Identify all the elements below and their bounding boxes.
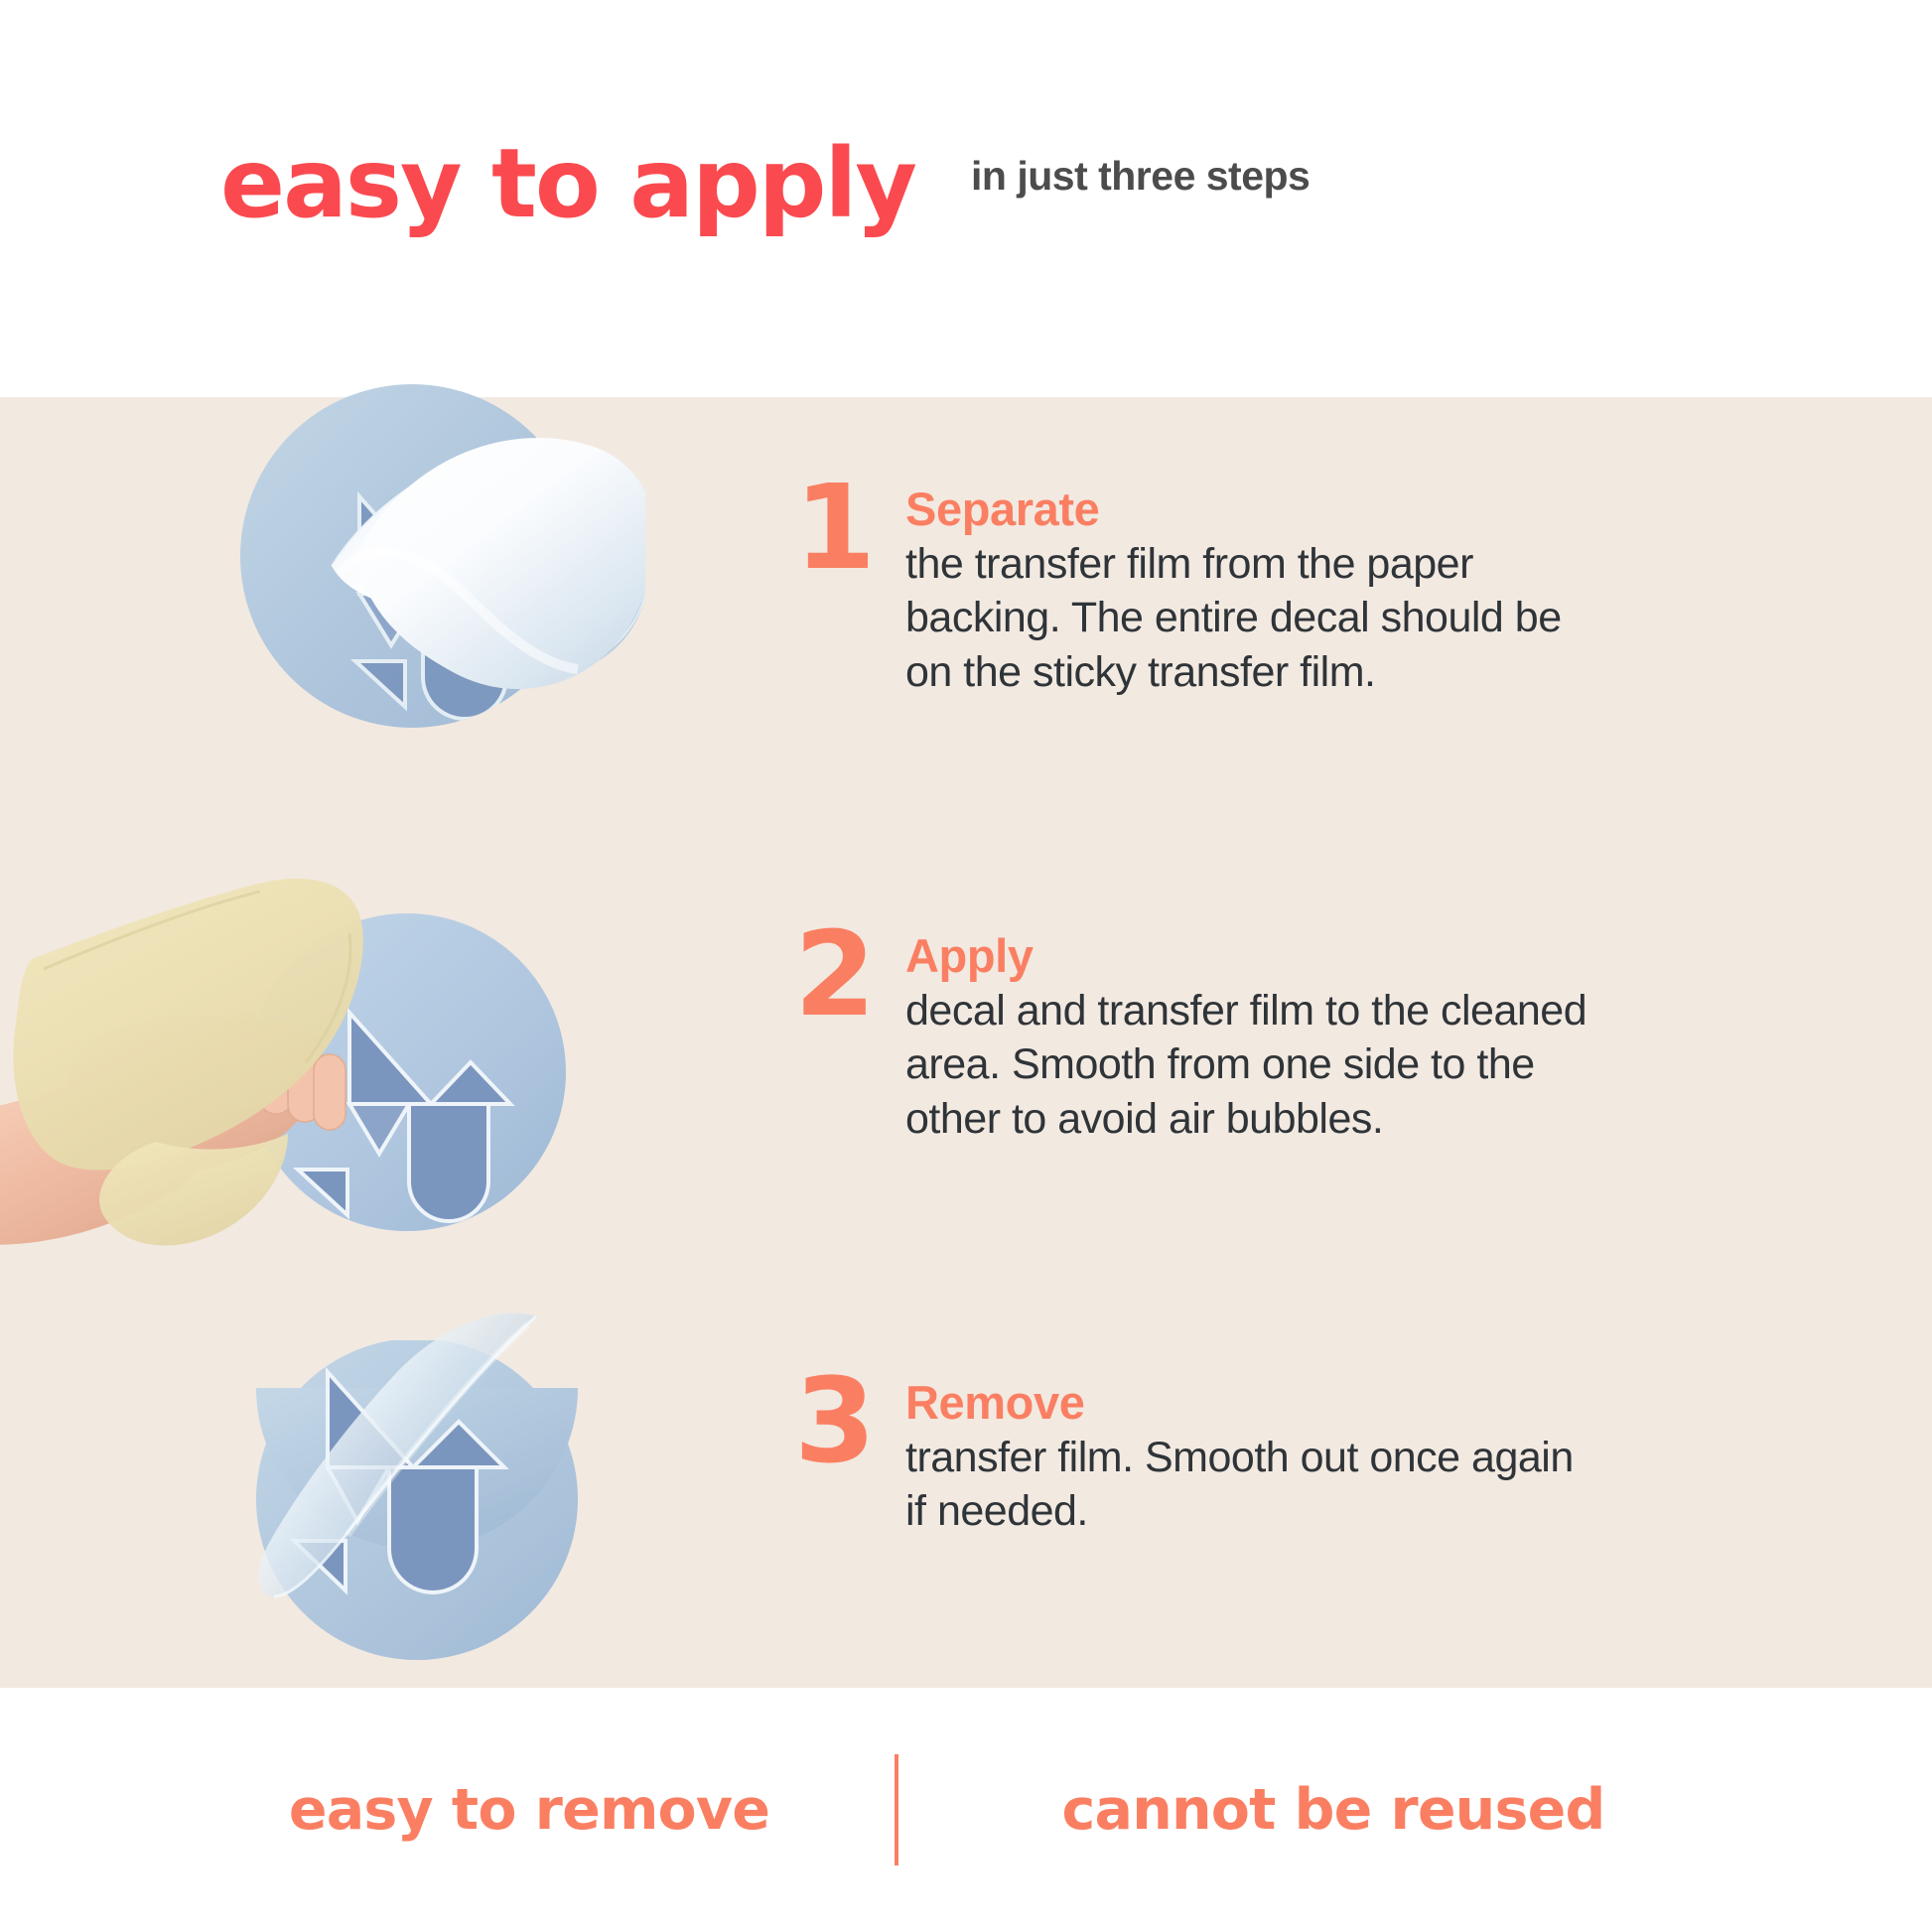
step-text-apply: decal and transfer film to the cleaned a… bbox=[905, 984, 1600, 1147]
headline-group: easy to apply in just three steps bbox=[220, 139, 1328, 228]
infographic-poster: easy to apply in just three steps bbox=[0, 0, 1932, 1932]
step-text-separate: the transfer film from the paper backing… bbox=[905, 537, 1600, 700]
footer: easy to remove cannot be reused bbox=[0, 1688, 1932, 1932]
step-1-illustration bbox=[228, 328, 645, 745]
page-subtitle: in just three steps bbox=[971, 151, 1328, 201]
step-body-1: Separate the transfer film from the pape… bbox=[905, 477, 1600, 700]
footer-claim-cannot-be-reused: cannot be reused bbox=[956, 1777, 1711, 1843]
footer-claim-easy-to-remove: easy to remove bbox=[221, 1777, 837, 1843]
step-body-3: Remove transfer film. Smooth out once ag… bbox=[905, 1370, 1600, 1539]
step-item-3: 3 Remove transfer film. Smooth out once … bbox=[794, 1370, 1600, 1539]
steps-list: 1 Separate the transfer film from the pa… bbox=[794, 397, 1569, 1688]
step-title-remove: Remove bbox=[905, 1378, 1600, 1429]
step-2-illustration bbox=[0, 784, 695, 1311]
step-number-1: 1 bbox=[794, 477, 905, 580]
step-body-2: Apply decal and transfer film to the cle… bbox=[905, 923, 1600, 1147]
step-text-remove: transfer film. Smooth out once again if … bbox=[905, 1431, 1600, 1539]
page-title: easy to apply bbox=[220, 139, 915, 228]
step-title-separate: Separate bbox=[905, 484, 1600, 535]
step-title-apply: Apply bbox=[905, 931, 1600, 982]
step-number-2: 2 bbox=[794, 923, 905, 1027]
step-number-3: 3 bbox=[794, 1370, 905, 1473]
footer-divider bbox=[895, 1754, 898, 1865]
step-item-1: 1 Separate the transfer film from the pa… bbox=[794, 477, 1600, 700]
step-item-2: 2 Apply decal and transfer film to the c… bbox=[794, 923, 1600, 1147]
step-3-illustration bbox=[238, 1311, 616, 1708]
